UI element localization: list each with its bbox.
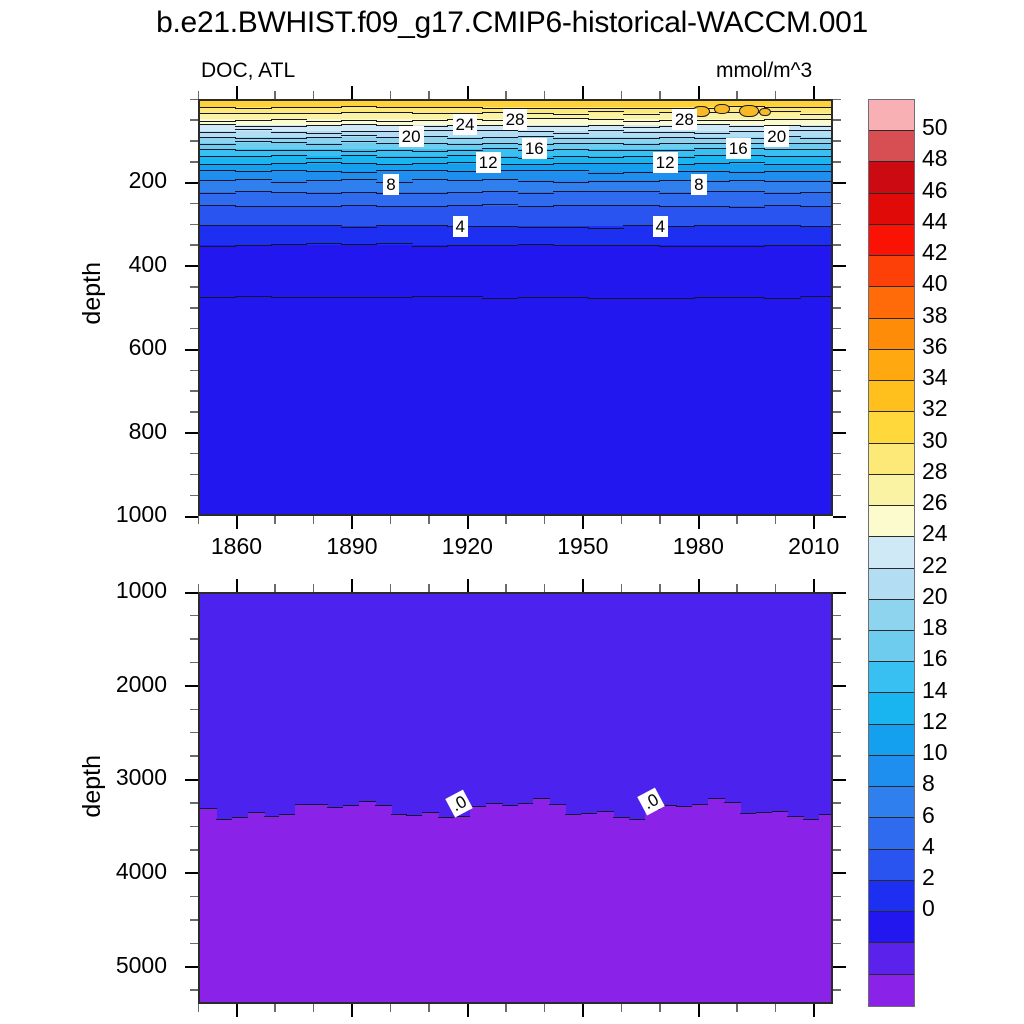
contour-line bbox=[482, 143, 518, 144]
y-tick-deep bbox=[190, 755, 198, 757]
contour-label: 4 bbox=[653, 216, 668, 237]
colorbar[interactable] bbox=[868, 99, 915, 1007]
colorbar-cell bbox=[869, 787, 914, 818]
contour-line bbox=[623, 144, 659, 145]
contour-line bbox=[235, 108, 271, 109]
contour-line bbox=[518, 131, 554, 132]
contour-line bbox=[553, 297, 589, 298]
contour-line bbox=[694, 206, 730, 207]
contour-band bbox=[692, 804, 709, 1004]
contour-line bbox=[800, 181, 833, 182]
y-tick-deep bbox=[190, 943, 198, 945]
contour-line bbox=[692, 804, 709, 805]
contour-line bbox=[729, 191, 765, 192]
colorbar-tick-label: 46 bbox=[922, 177, 992, 204]
contour-line bbox=[800, 156, 833, 157]
x-tick-upper bbox=[698, 516, 700, 529]
contour-line bbox=[724, 802, 741, 803]
x-tick-deep bbox=[236, 1004, 238, 1017]
contour-line bbox=[623, 191, 659, 192]
contour-line bbox=[376, 170, 412, 171]
colorbar-cell bbox=[869, 225, 914, 256]
contour-line bbox=[819, 814, 833, 815]
contour-line bbox=[376, 157, 412, 158]
contour-band bbox=[518, 803, 535, 1004]
contour-line bbox=[729, 131, 765, 132]
contour-line bbox=[447, 205, 483, 206]
contour-line bbox=[341, 163, 377, 164]
x-tick-label: 1920 bbox=[407, 533, 527, 560]
x-tick-deep-top bbox=[775, 584, 777, 592]
contour-band bbox=[819, 814, 833, 1004]
y-tick-deep bbox=[833, 989, 841, 991]
contour-line bbox=[729, 225, 765, 226]
contour-line bbox=[279, 814, 296, 815]
contour-line bbox=[553, 143, 589, 144]
contour-band bbox=[549, 804, 566, 1004]
x-tick-upper bbox=[544, 516, 546, 524]
y-tick-upper bbox=[190, 474, 198, 476]
contour-line bbox=[565, 814, 582, 815]
contour-line bbox=[623, 121, 659, 122]
contour-line bbox=[341, 244, 377, 245]
x-tick-upper-top bbox=[351, 86, 353, 99]
colorbar-tick-label: 32 bbox=[922, 395, 992, 422]
contour-line bbox=[264, 816, 281, 817]
contour-line bbox=[376, 164, 412, 165]
contour-label: 4 bbox=[453, 216, 468, 237]
x-tick-deep-top bbox=[659, 584, 661, 592]
contour-band bbox=[422, 812, 439, 1004]
contour-line bbox=[412, 120, 448, 121]
colorbar-cell bbox=[869, 287, 914, 318]
x-tick-deep bbox=[621, 1004, 623, 1012]
contour-band bbox=[311, 804, 328, 1004]
x-tick-deep-top bbox=[505, 584, 507, 592]
contour-line bbox=[553, 126, 589, 127]
contour-line bbox=[341, 120, 377, 121]
contour-line bbox=[306, 225, 342, 226]
contour-line bbox=[764, 156, 800, 157]
contour-line bbox=[588, 181, 624, 182]
contour-line bbox=[694, 124, 730, 125]
y-tick-upper bbox=[190, 224, 198, 226]
colorbar-cell bbox=[869, 631, 914, 662]
y-tick-upper bbox=[833, 119, 841, 121]
x-tick-deep bbox=[775, 1004, 777, 1012]
plot-units-label: mmol/m^3 bbox=[716, 59, 812, 83]
x-tick-deep bbox=[505, 1004, 507, 1012]
contour-line bbox=[376, 121, 412, 122]
colorbar-cell bbox=[869, 381, 914, 412]
colorbar-cell bbox=[869, 444, 914, 475]
contour-line bbox=[271, 192, 307, 193]
y-tick-upper bbox=[833, 328, 841, 330]
contour-band bbox=[756, 812, 773, 1004]
y-tick-deep bbox=[833, 592, 846, 594]
x-tick-upper-top bbox=[813, 86, 815, 99]
contour-line bbox=[235, 206, 271, 207]
contour-line bbox=[412, 163, 448, 164]
contour-band bbox=[581, 813, 598, 1004]
x-tick-upper bbox=[775, 516, 777, 524]
x-tick-deep bbox=[351, 1004, 353, 1017]
colorbar-tick-label: 44 bbox=[922, 208, 992, 235]
colorbar-cell bbox=[869, 975, 914, 1006]
y-tick-deep bbox=[190, 732, 198, 734]
page-title: b.e21.BWHIST.f09_g17.CMIP6-historical-WA… bbox=[0, 6, 1024, 40]
y-tick-upper bbox=[833, 390, 841, 392]
contour-line bbox=[764, 225, 800, 226]
x-tick-upper-top bbox=[467, 86, 469, 99]
contour-band bbox=[327, 807, 344, 1004]
contour-band bbox=[613, 817, 630, 1004]
contour-band bbox=[343, 805, 360, 1004]
contour-line bbox=[553, 133, 589, 134]
contour-line bbox=[518, 170, 554, 171]
x-tick-deep bbox=[582, 1004, 584, 1017]
contour-line bbox=[597, 811, 614, 812]
contour-line bbox=[412, 170, 448, 171]
colorbar-cell bbox=[869, 475, 914, 506]
contour-line bbox=[235, 120, 271, 121]
contour-line bbox=[412, 296, 448, 297]
contour-line bbox=[800, 114, 833, 115]
contour-line bbox=[341, 124, 377, 125]
contour-line bbox=[588, 173, 624, 174]
contour-line bbox=[518, 803, 535, 804]
colorbar-tick-label: 18 bbox=[922, 614, 992, 641]
y-tick-upper bbox=[190, 328, 198, 330]
y-tick-upper bbox=[190, 119, 198, 121]
contour-line bbox=[200, 205, 236, 206]
contour-line bbox=[729, 120, 765, 121]
contour-line bbox=[306, 180, 342, 181]
contour-line bbox=[613, 817, 630, 818]
y-tick-label: 3000 bbox=[47, 764, 167, 791]
x-tick-upper bbox=[505, 516, 507, 524]
colorbar-tick-label: 26 bbox=[922, 489, 992, 516]
contour-band bbox=[565, 814, 582, 1005]
contour-line bbox=[659, 246, 695, 247]
contour-line bbox=[659, 150, 695, 151]
contour-line bbox=[375, 805, 392, 806]
contour-line bbox=[800, 126, 833, 127]
contour-line bbox=[200, 297, 236, 298]
x-tick-deep bbox=[274, 1004, 276, 1012]
contour-line bbox=[623, 138, 659, 139]
colorbar-cell bbox=[869, 319, 914, 350]
contour-line bbox=[518, 181, 554, 182]
contour-label: 12 bbox=[653, 152, 678, 173]
contour-line bbox=[235, 171, 271, 172]
contour-line bbox=[553, 138, 589, 139]
contour-line bbox=[200, 164, 236, 165]
contour-line bbox=[553, 108, 589, 109]
contour-line bbox=[553, 182, 589, 183]
x-tick-deep-top bbox=[313, 584, 315, 592]
y-tick-upper bbox=[185, 432, 198, 434]
y-tick-upper bbox=[833, 244, 841, 246]
contour-line bbox=[764, 245, 800, 246]
contour-band bbox=[708, 798, 725, 1004]
colorbar-tick-label: 16 bbox=[922, 645, 992, 672]
contour-line bbox=[306, 113, 342, 114]
contour-line bbox=[800, 143, 833, 144]
contour-band bbox=[660, 805, 677, 1004]
y-tick-label: 5000 bbox=[47, 952, 167, 979]
contour-line bbox=[549, 804, 566, 805]
y-tick-label: 1000 bbox=[47, 501, 167, 528]
contour-line bbox=[588, 138, 624, 139]
contour-line bbox=[553, 118, 589, 119]
y-tick-deep bbox=[833, 709, 841, 711]
contour-line bbox=[729, 172, 765, 173]
contour-closed-bump bbox=[759, 108, 771, 116]
colorbar-cell bbox=[869, 818, 914, 849]
contour-closed-bump bbox=[714, 104, 730, 114]
contour-line bbox=[729, 246, 765, 247]
contour-line bbox=[200, 137, 236, 138]
y-tick-upper bbox=[185, 182, 198, 184]
contour-line bbox=[694, 225, 730, 226]
contour-line bbox=[343, 805, 360, 806]
contour-line bbox=[306, 150, 342, 151]
contour-line bbox=[412, 225, 448, 226]
x-tick-upper-top bbox=[698, 86, 700, 99]
contour-label: 28 bbox=[503, 109, 528, 130]
contour-band bbox=[629, 819, 646, 1004]
contour-line bbox=[764, 119, 800, 120]
contour-line bbox=[659, 132, 695, 133]
contour-line bbox=[553, 205, 589, 206]
contour-line bbox=[623, 127, 659, 128]
contour-line bbox=[588, 119, 624, 120]
x-tick-deep-top bbox=[351, 579, 353, 592]
contour-line bbox=[740, 813, 757, 814]
x-tick-upper bbox=[467, 516, 469, 529]
contour-panel-deep[interactable] bbox=[198, 592, 833, 1004]
contour-line bbox=[235, 225, 271, 226]
contour-line bbox=[295, 804, 312, 805]
y-tick-deep bbox=[833, 638, 841, 640]
colorbar-tick-label: 8 bbox=[922, 770, 992, 797]
colorbar-cell bbox=[869, 569, 914, 600]
contour-line bbox=[341, 106, 377, 107]
y-tick-deep bbox=[833, 849, 841, 851]
x-tick-deep bbox=[544, 1004, 546, 1012]
contour-line bbox=[447, 296, 483, 297]
contour-line bbox=[764, 193, 800, 194]
y-tick-label: 4000 bbox=[47, 858, 167, 885]
contour-band bbox=[200, 808, 217, 1004]
y-tick-deep bbox=[833, 966, 846, 968]
contour-line bbox=[518, 164, 554, 165]
contour-line bbox=[271, 170, 307, 171]
contour-line bbox=[306, 121, 342, 122]
contour-line bbox=[581, 813, 598, 814]
y-tick-deep bbox=[190, 662, 198, 664]
contour-line bbox=[553, 114, 589, 115]
x-tick-deep bbox=[428, 1004, 430, 1012]
y-tick-upper bbox=[185, 349, 198, 351]
contour-line bbox=[772, 811, 789, 812]
contour-line bbox=[764, 164, 800, 165]
y-tick-deep bbox=[190, 802, 198, 804]
contour-line bbox=[235, 129, 271, 130]
contour-line bbox=[764, 205, 800, 206]
y-tick-deep bbox=[185, 685, 198, 687]
colorbar-tick-label: 48 bbox=[922, 145, 992, 172]
contour-band bbox=[232, 817, 249, 1004]
contour-line bbox=[412, 193, 448, 194]
colorbar-cell bbox=[869, 412, 914, 443]
contour-line bbox=[412, 246, 448, 247]
contour-line bbox=[588, 163, 624, 164]
x-tick-upper bbox=[428, 516, 430, 524]
contour-line bbox=[533, 798, 550, 799]
contour-line bbox=[447, 144, 483, 145]
y-tick-upper bbox=[190, 161, 198, 163]
contour-line bbox=[800, 171, 833, 172]
contour-line bbox=[482, 226, 518, 227]
y-tick-upper bbox=[833, 265, 846, 267]
contour-band bbox=[359, 801, 376, 1004]
y-tick-upper bbox=[833, 140, 841, 142]
contour-band bbox=[264, 816, 281, 1004]
contour-line bbox=[271, 113, 307, 114]
x-tick-upper bbox=[313, 516, 315, 524]
colorbar-tick-label: 50 bbox=[922, 114, 992, 141]
contour-line bbox=[306, 125, 342, 126]
colorbar-cell bbox=[869, 506, 914, 537]
y-tick-upper bbox=[833, 453, 841, 455]
colorbar-tick-label: 22 bbox=[922, 552, 992, 579]
colorbar-tick-label: 28 bbox=[922, 458, 992, 485]
y-tick-label: 200 bbox=[47, 167, 167, 194]
x-tick-deep-top bbox=[813, 579, 815, 592]
colorbar-tick-label: 42 bbox=[922, 239, 992, 266]
contour-line bbox=[235, 150, 271, 151]
colorbar-cell bbox=[869, 756, 914, 787]
contour-line bbox=[341, 192, 377, 193]
contour-line bbox=[200, 121, 236, 122]
y-tick-upper bbox=[190, 390, 198, 392]
contour-line bbox=[553, 191, 589, 192]
y-tick-upper bbox=[833, 495, 841, 497]
colorbar-tick-label: 10 bbox=[922, 739, 992, 766]
contour-line bbox=[447, 150, 483, 151]
contour-line bbox=[553, 149, 589, 150]
x-tick-upper-top bbox=[544, 91, 546, 99]
contour-line bbox=[659, 298, 695, 299]
contour-band bbox=[597, 811, 614, 1004]
contour-line bbox=[376, 107, 412, 108]
contour-line bbox=[341, 297, 377, 298]
contour-panel-upper[interactable] bbox=[198, 99, 833, 516]
y-tick-upper bbox=[190, 370, 198, 372]
x-tick-deep-top bbox=[544, 584, 546, 592]
contour-line bbox=[518, 136, 554, 137]
contour-line bbox=[502, 805, 519, 806]
contour-line bbox=[235, 156, 271, 157]
contour-line bbox=[659, 180, 695, 181]
contour-line bbox=[518, 297, 554, 298]
contour-line bbox=[623, 108, 659, 109]
contour-line bbox=[764, 298, 800, 299]
contour-line bbox=[800, 226, 833, 227]
y-tick-deep bbox=[833, 615, 841, 617]
contour-band bbox=[454, 816, 471, 1004]
y-tick-upper bbox=[833, 307, 841, 309]
contour-line bbox=[629, 819, 646, 820]
y-tick-upper bbox=[833, 286, 841, 288]
colorbar-cell bbox=[869, 162, 914, 193]
y-tick-deep bbox=[833, 872, 846, 874]
x-tick-upper-top bbox=[428, 91, 430, 99]
contour-line bbox=[341, 179, 377, 180]
x-tick-label: 1860 bbox=[176, 533, 296, 560]
y-tick-deep bbox=[190, 709, 198, 711]
x-tick-upper-top bbox=[775, 91, 777, 99]
colorbar-cell bbox=[869, 943, 914, 974]
contour-line bbox=[341, 141, 377, 142]
contour-line bbox=[764, 107, 800, 108]
x-tick-deep-top bbox=[390, 584, 392, 592]
contour-line bbox=[271, 107, 307, 108]
contour-line bbox=[200, 170, 236, 171]
contour-line bbox=[200, 808, 217, 809]
contour-line bbox=[588, 191, 624, 192]
y-tick-label: 800 bbox=[47, 418, 167, 445]
contour-line bbox=[588, 143, 624, 144]
contour-line bbox=[800, 119, 833, 120]
contour-line bbox=[341, 151, 377, 152]
x-tick-deep-top bbox=[621, 584, 623, 592]
contour-line bbox=[306, 107, 342, 108]
contour-line bbox=[306, 193, 342, 194]
contour-line bbox=[482, 130, 518, 131]
contour-line bbox=[200, 132, 236, 133]
contour-line bbox=[553, 163, 589, 164]
x-tick-deep-top bbox=[582, 579, 584, 592]
contour-label: 12 bbox=[476, 152, 501, 173]
x-tick-deep-top bbox=[274, 584, 276, 592]
contour-line bbox=[341, 131, 377, 132]
contour-band bbox=[724, 802, 741, 1004]
x-tick-deep bbox=[736, 1004, 738, 1012]
contour-line bbox=[588, 157, 624, 158]
contour-line bbox=[376, 225, 412, 226]
contour-line bbox=[376, 150, 412, 151]
contour-line bbox=[306, 171, 342, 172]
colorbar-cell bbox=[869, 725, 914, 756]
y-tick-upper bbox=[833, 349, 846, 351]
y-tick-label: 600 bbox=[47, 334, 167, 361]
contour-line bbox=[341, 112, 377, 113]
y-tick-upper bbox=[190, 307, 198, 309]
y-tick-deep bbox=[833, 779, 846, 781]
contour-line bbox=[659, 137, 695, 138]
colorbar-cell bbox=[869, 131, 914, 162]
y-tick-deep bbox=[185, 779, 198, 781]
contour-line bbox=[406, 815, 423, 816]
contour-line bbox=[200, 124, 236, 125]
x-tick-label: 1950 bbox=[523, 533, 643, 560]
colorbar-cell bbox=[869, 850, 914, 881]
contour-line bbox=[694, 120, 730, 121]
contour-line bbox=[271, 182, 307, 183]
